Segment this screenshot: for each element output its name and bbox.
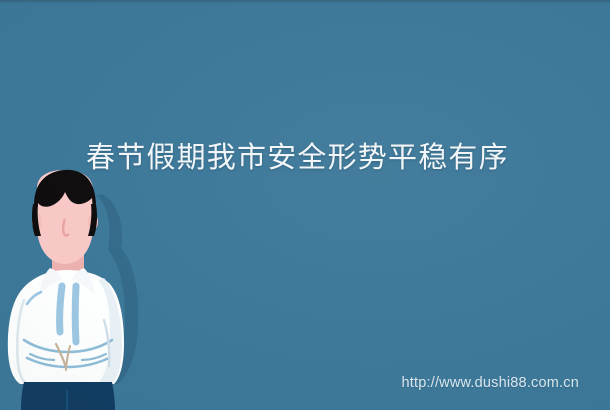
top-edge-band: [0, 0, 610, 4]
page-title: 春节假期我市安全形势平稳有序: [86, 141, 546, 175]
article-cover-image: 春节假期我市安全形势平稳有序 http://www.dushi88.com.cn: [0, 0, 610, 410]
hoodie-group: [8, 268, 124, 384]
pants-group: [21, 382, 115, 410]
hoodie-man-illustration: [0, 168, 150, 410]
source-watermark: http://www.dushi88.com.cn: [402, 375, 579, 391]
